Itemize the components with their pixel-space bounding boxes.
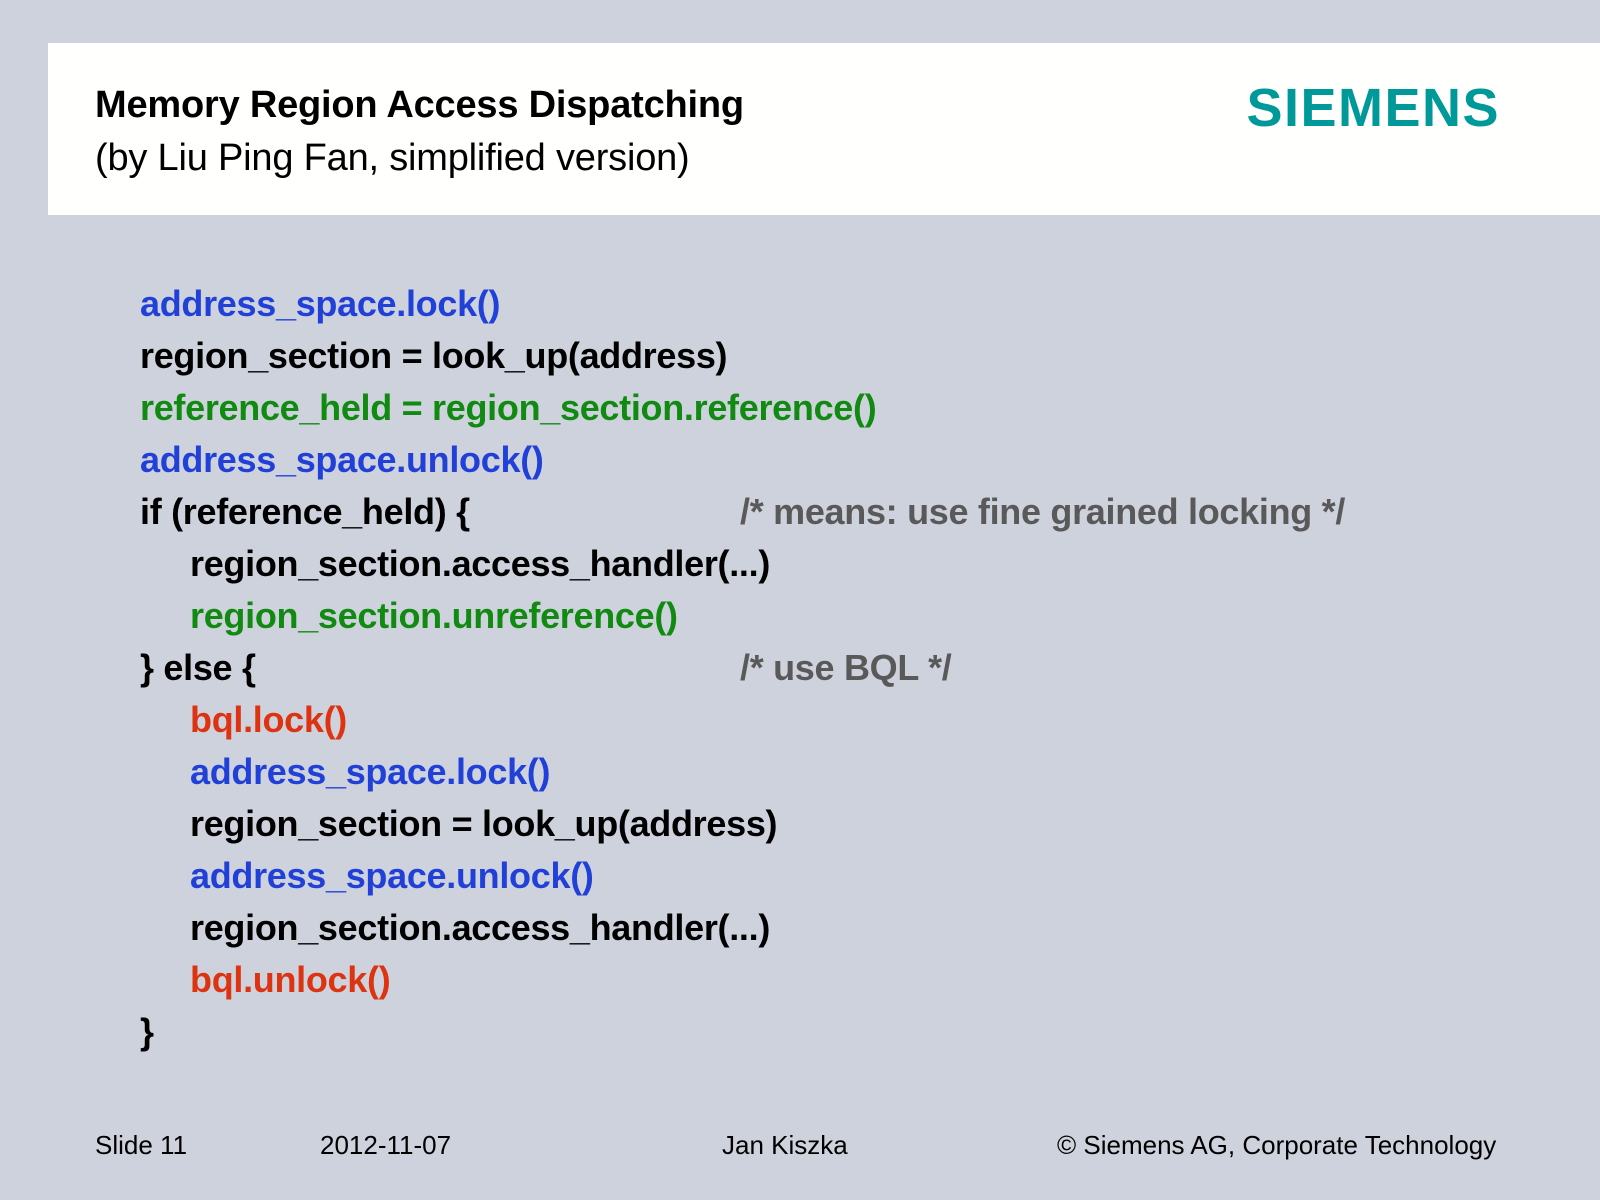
page-title: Memory Region Access Dispatching [95, 79, 744, 131]
code-line-text: } [140, 1006, 154, 1058]
code-line: address_space.unlock() [140, 434, 1560, 486]
code-line: bql.lock() [140, 694, 1560, 746]
code-line-text: } else { [140, 642, 256, 694]
footer-date: 2012-11-07 [320, 1128, 451, 1162]
code-line-text: bql.unlock() [190, 954, 390, 1006]
code-line-text: region_section.unreference() [190, 590, 678, 642]
code-line-text: address_space.unlock() [190, 850, 594, 902]
code-line: region_section.access_handler(...) [140, 902, 1560, 954]
footer-copyright: © Siemens AG, Corporate Technology [1057, 1128, 1496, 1162]
code-line: region_section.unreference() [140, 590, 1560, 642]
code-line: region_section = look_up(address) [140, 330, 1560, 382]
code-line-text: address_space.unlock() [140, 434, 544, 486]
code-line: reference_held = region_section.referenc… [140, 382, 1560, 434]
siemens-logo: SIEMENS [1246, 77, 1500, 139]
code-comment: /* use BQL */ [740, 642, 952, 694]
code-line: address_space.unlock() [140, 850, 1560, 902]
code-comment: /* means: use fine grained locking */ [740, 486, 1345, 538]
code-line: address_space.lock() [140, 746, 1560, 798]
code-line: } else {/* use BQL */ [140, 642, 1560, 694]
code-line: if (reference_held) {/* means: use fine … [140, 486, 1560, 538]
code-line-text: reference_held = region_section.referenc… [140, 382, 876, 434]
title-block: Memory Region Access Dispatching (by Liu… [95, 79, 744, 185]
code-line-text: if (reference_held) { [140, 486, 470, 538]
code-line-text: address_space.lock() [190, 746, 550, 798]
code-block: address_space.lock()region_section = loo… [140, 278, 1560, 1058]
code-line-text: region_section.access_handler(...) [190, 538, 770, 590]
footer-slide-number: Slide 11 [95, 1128, 187, 1162]
slide-footer: Slide 11 2012-11-07 Jan Kiszka © Siemens… [0, 1128, 1600, 1176]
code-line-text: region_section = look_up(address) [190, 798, 777, 850]
code-line: address_space.lock() [140, 278, 1560, 330]
code-line: region_section.access_handler(...) [140, 538, 1560, 590]
code-line-text: region_section.access_handler(...) [190, 902, 770, 954]
page-subtitle: (by Liu Ping Fan, simplified version) [95, 131, 744, 185]
code-line-text: bql.lock() [190, 694, 347, 746]
code-line: region_section = look_up(address) [140, 798, 1560, 850]
code-line: } [140, 1006, 1560, 1058]
footer-author: Jan Kiszka [722, 1128, 848, 1162]
code-line: bql.unlock() [140, 954, 1560, 1006]
code-line-text: address_space.lock() [140, 278, 500, 330]
code-line-text: region_section = look_up(address) [140, 330, 727, 382]
slide-header-band: Memory Region Access Dispatching (by Liu… [48, 43, 1600, 215]
